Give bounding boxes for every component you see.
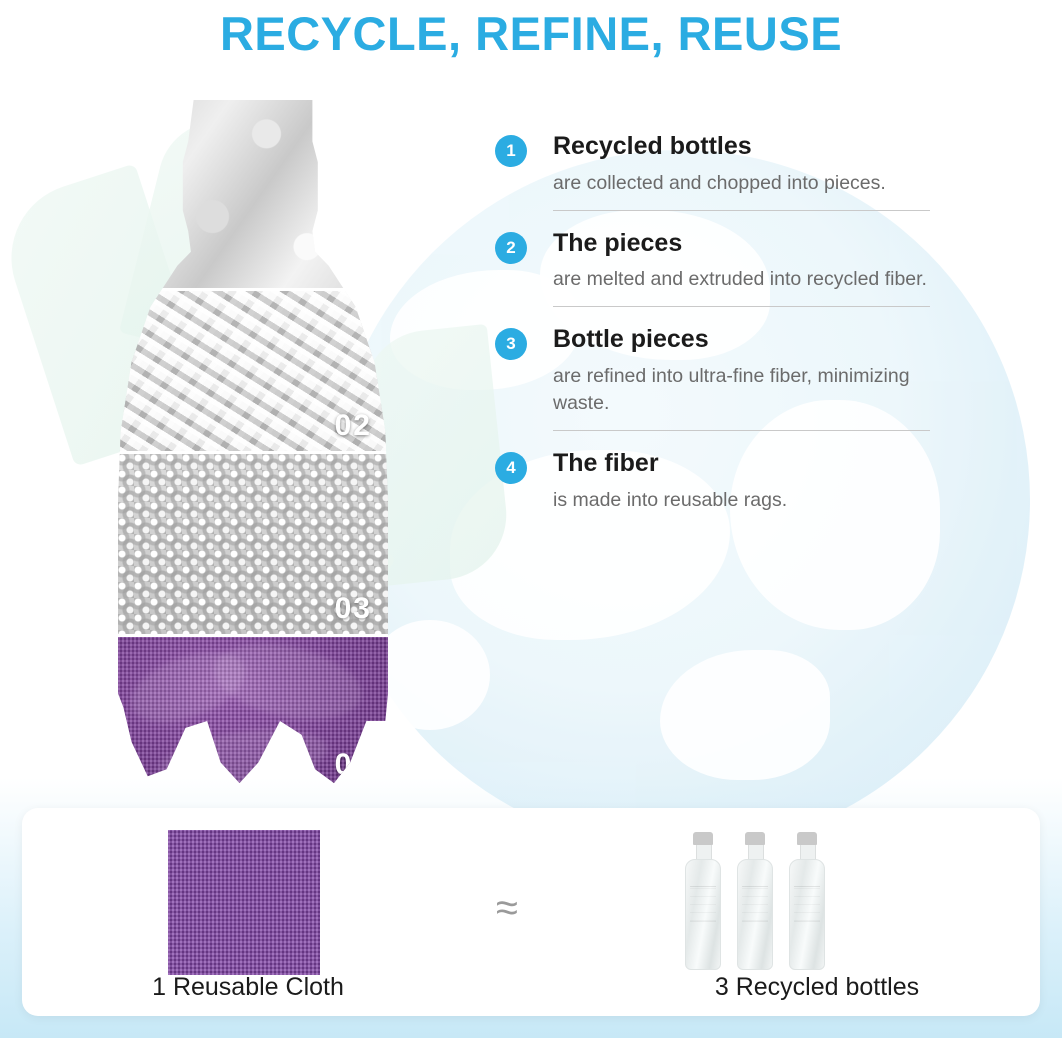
bottle-segment-number: 03 bbox=[335, 592, 372, 626]
step-title: Bottle pieces bbox=[553, 325, 930, 354]
step-item-2: 2 The pieces are melted and extruded int… bbox=[495, 211, 930, 308]
step-description: are collected and chopped into pieces. bbox=[553, 170, 930, 197]
equivalence-left-caption: 1 Reusable Cloth bbox=[118, 973, 378, 1002]
cloth-swatch-image bbox=[168, 830, 320, 975]
step-title: The fiber bbox=[553, 449, 930, 478]
equivalence-card: ≈ 1 Reusable Cloth 3 Recycled bottles bbox=[22, 808, 1040, 1016]
step-title: Recycled bottles bbox=[553, 132, 930, 161]
mini-bottle-icon bbox=[682, 832, 724, 970]
bottle-body bbox=[789, 859, 825, 970]
bottle-segment-03: 03 bbox=[118, 451, 388, 634]
mini-bottle-icon bbox=[786, 832, 828, 970]
step-description: are refined into ultra-fine fiber, minim… bbox=[553, 363, 930, 417]
bottle-body bbox=[737, 859, 773, 970]
bottle-segment-04: 04 bbox=[118, 634, 388, 790]
bottle-cap-icon bbox=[693, 832, 713, 845]
page-title: RECYCLE, REFINE, REUSE bbox=[0, 6, 1062, 61]
bottle-segment-02: 02 bbox=[118, 288, 388, 451]
bottle-segment-number: 04 bbox=[335, 748, 372, 782]
bottle-segment-number: 02 bbox=[335, 409, 372, 443]
step-number-badge: 1 bbox=[495, 135, 527, 167]
bottle-cap-icon bbox=[797, 832, 817, 845]
bottle-cap-icon bbox=[745, 832, 765, 845]
step-number-badge: 3 bbox=[495, 328, 527, 360]
step-description: is made into reusable rags. bbox=[553, 487, 930, 514]
recycled-bottles-image bbox=[682, 822, 842, 977]
step-title: The pieces bbox=[553, 229, 930, 258]
bottle-silhouette: 01 02 03 04 bbox=[118, 100, 388, 790]
bottle-infographic: 01 02 03 04 bbox=[118, 100, 388, 790]
step-number-badge: 2 bbox=[495, 232, 527, 264]
mini-bottle-icon bbox=[734, 832, 776, 970]
approximately-equal-icon: ≈ bbox=[477, 886, 537, 931]
steps-list: 1 Recycled bottles are collected and cho… bbox=[495, 132, 930, 528]
step-number-badge: 4 bbox=[495, 452, 527, 484]
bottle-segment-01: 01 bbox=[118, 100, 388, 288]
step-item-4: 4 The fiber is made into reusable rags. bbox=[495, 431, 930, 528]
bottle-segment-number: 01 bbox=[335, 246, 372, 280]
bottle-body bbox=[685, 859, 721, 970]
equivalence-right-caption: 3 Recycled bottles bbox=[632, 973, 1002, 1002]
step-item-3: 3 Bottle pieces are refined into ultra-f… bbox=[495, 307, 930, 431]
step-item-1: 1 Recycled bottles are collected and cho… bbox=[495, 132, 930, 211]
step-description: are melted and extruded into recycled fi… bbox=[553, 266, 930, 293]
